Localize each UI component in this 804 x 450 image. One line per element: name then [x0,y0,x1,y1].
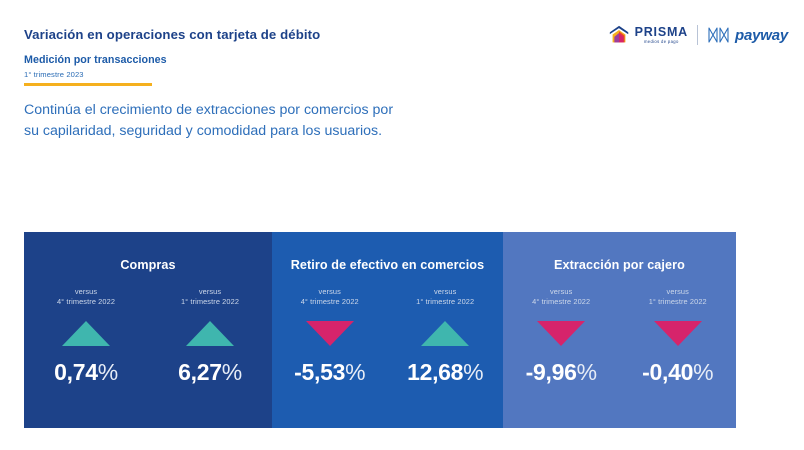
metric-versus-word: versus [181,287,239,297]
metric-versus-word: versus [416,287,474,297]
report-period: 1° trimestre 2023 [24,70,84,79]
metric-versus-word: versus [301,287,359,297]
arrow-down-icon [537,321,585,346]
panel-metrics: versus4° trimestre 2022-9,96%versus1° tr… [503,287,736,386]
metric-versus-period: 1° trimestre 2022 [416,297,474,307]
metrics-panel: Retiro de efectivo en comerciosversus4° … [272,232,503,428]
metric-cell: versus4° trimestre 20220,74% [24,287,148,386]
report-header: Variación en operaciones con tarjeta de … [0,0,804,92]
metric-number: -9,96 [526,359,577,385]
metric-comparison-label: versus1° trimestre 2022 [649,287,707,306]
lead-line-1: Continúa el crecimiento de extracciones … [24,100,494,121]
metric-percent-sign: % [463,359,483,385]
report-subtitle: Medición por transacciones [24,54,167,66]
metric-versus-period: 1° trimestre 2022 [649,297,707,307]
panel-metrics: versus4° trimestre 2022-5,53%versus1° tr… [272,287,503,386]
metric-percent-sign: % [345,359,365,385]
prisma-logo: PRISMA medios de pago [608,24,688,46]
arrow-up-icon [62,321,110,346]
metric-percent-sign: % [98,359,118,385]
metric-value: 0,74% [54,359,118,386]
arrow-up-icon [186,321,234,346]
metric-versus-period: 1° trimestre 2022 [181,297,239,307]
metric-percent-sign: % [222,359,242,385]
metric-number: 6,27 [178,359,222,385]
lead-paragraph: Continúa el crecimiento de extracciones … [24,100,494,142]
lead-line-2: su capilaridad, seguridad y comodidad pa… [24,121,494,142]
metrics-panel: Comprasversus4° trimestre 20220,74%versu… [24,232,272,428]
metric-cell: versus1° trimestre 2022-0,40% [619,287,736,386]
metric-value: -5,53% [294,359,365,386]
metric-comparison-label: versus4° trimestre 2022 [301,287,359,306]
payway-logo: payway [707,25,788,45]
metric-number: 12,68 [407,359,463,385]
arrow-down-icon [306,321,354,346]
prisma-wordmark: PRISMA medios de pago [635,26,688,44]
panel-title: Compras [24,258,272,272]
metric-value: -9,96% [526,359,597,386]
metric-number: 0,74 [54,359,98,385]
metric-comparison-label: versus4° trimestre 2022 [532,287,590,306]
metric-comparison-label: versus1° trimestre 2022 [416,287,474,306]
logo-bar: PRISMA medios de pago payway [608,21,788,49]
prisma-word: PRISMA [635,26,688,39]
metric-value: 6,27% [178,359,242,386]
panel-title: Retiro de efectivo en comercios [272,258,503,272]
metric-cell: versus4° trimestre 2022-9,96% [503,287,620,386]
metric-versus-word: versus [532,287,590,297]
payway-word: payway [735,27,788,44]
accent-rule [24,83,152,86]
metric-percent-sign: % [577,359,597,385]
panel-metrics: versus4° trimestre 20220,74%versus1° tri… [24,287,272,386]
metric-versus-word: versus [649,287,707,297]
metric-cell: versus1° trimestre 20226,27% [148,287,272,386]
metric-versus-word: versus [57,287,115,297]
metric-comparison-label: versus4° trimestre 2022 [57,287,115,306]
prisma-tagline: medios de pago [644,40,679,44]
metrics-panel: Extracción por cajeroversus4° trimestre … [503,232,736,428]
metric-versus-period: 4° trimestre 2022 [301,297,359,307]
metric-number: -5,53 [294,359,345,385]
metric-comparison-label: versus1° trimestre 2022 [181,287,239,306]
metric-value: -0,40% [642,359,713,386]
metrics-panel-band: Comprasversus4° trimestre 20220,74%versu… [24,232,736,428]
page-title: Variación en operaciones con tarjeta de … [24,27,320,42]
metric-cell: versus1° trimestre 202212,68% [387,287,502,386]
metric-versus-period: 4° trimestre 2022 [532,297,590,307]
metric-number: -0,40 [642,359,693,385]
metric-cell: versus4° trimestre 2022-5,53% [272,287,387,386]
prisma-mark-icon [608,24,630,46]
panel-title: Extracción por cajero [503,258,736,272]
logo-divider [697,25,698,45]
payway-mark-icon [707,25,730,45]
metric-versus-period: 4° trimestre 2022 [57,297,115,307]
arrow-down-icon [654,321,702,346]
arrow-up-icon [421,321,469,346]
metric-percent-sign: % [693,359,713,385]
metric-value: 12,68% [407,359,483,386]
